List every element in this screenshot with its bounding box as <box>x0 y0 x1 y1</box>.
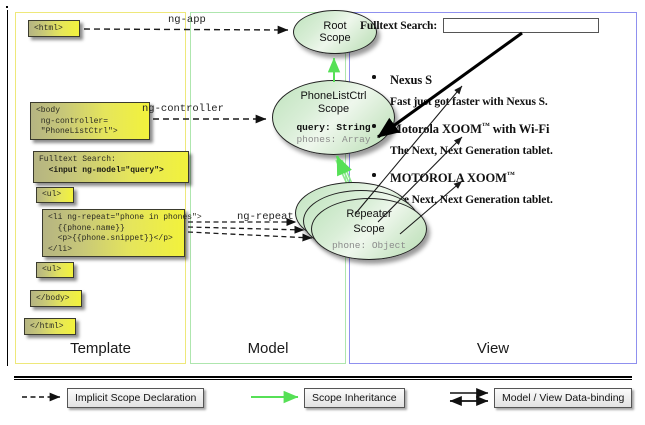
legend-label-model-view-databinding: Model / View Data-binding <box>494 388 632 408</box>
scope-phonelistctrl-title-1: PhoneListCtrl <box>300 90 366 103</box>
list-item[interactable]: Nexus S Fast just got faster with Nexus … <box>372 70 622 109</box>
edge-label-ng-controller: ng-controller <box>142 103 224 115</box>
list-item-name-suffix: with Wi-Fi <box>490 122 550 136</box>
list-item-snippet: Fast just got faster with Nexus S. <box>390 96 622 109</box>
edge-label-ng-repeat: ng-repeat <box>237 211 294 223</box>
list-item-name-text: Nexus S <box>390 73 432 87</box>
code-box-fulltext-search: Fulltext Search: <input ng-model="query"… <box>33 151 189 183</box>
list-item[interactable]: MOTOROLA XOOM™ The Next, Next Generation… <box>372 168 622 207</box>
list-item-name-text: MOTOROLA XOOM <box>390 171 507 185</box>
scope-root-title-2: Scope <box>319 32 350 45</box>
list-item-name-text: Motorola XOOM <box>390 122 482 136</box>
scope-repeater-front: Repeater Scope phone: Object <box>311 198 427 260</box>
legend-divider <box>14 376 632 378</box>
code-box-li-ng-repeat: <li ng-repeat="phone in phones"> {{phone… <box>42 209 185 257</box>
list-item-snippet: The Next, Next Generation tablet. <box>390 145 622 158</box>
scope-phonelistctrl-title-2: Scope <box>318 103 349 116</box>
scope-repeater-title-1: Repeater <box>346 208 391 221</box>
trademark-icon: ™ <box>507 170 515 179</box>
list-item[interactable]: Motorola XOOM™ with Wi-Fi The Next, Next… <box>372 119 622 158</box>
panel-view-label: View <box>350 340 636 357</box>
edge-label-ng-app: ng-app <box>168 14 206 26</box>
panel-model-label: Model <box>191 340 345 357</box>
code-box-html-open: <html> <box>28 20 80 37</box>
bullet-icon <box>372 75 376 79</box>
scope-root-title-1: Root <box>323 20 346 33</box>
view-phone-list: Nexus S Fast just got faster with Nexus … <box>372 70 622 217</box>
code-box-body-close: </body> <box>30 290 82 307</box>
legend-label-scope-inheritance: Scope Inheritance <box>304 388 405 408</box>
diagram-canvas: Template Model View <box>0 0 645 425</box>
legend-label-implicit-scope-declaration: Implicit Scope Declaration <box>67 388 204 408</box>
bullet-icon <box>372 173 376 177</box>
code-box-html-close: </html> <box>24 318 76 335</box>
scope-repeater-title-2: Scope <box>353 223 384 236</box>
code-box-search-line2: <input ng-model="query"> <box>39 166 164 175</box>
code-box-search-line1: Fulltext Search: <box>39 155 116 164</box>
code-box-body-open: <body ng-controller= "PhoneListCtrl"> <box>30 102 150 140</box>
scope-repeater-prop-phone: phone: Object <box>332 240 406 252</box>
list-item-name: Nexus S <box>390 70 622 87</box>
code-box-ul-close: <ul> <box>36 262 74 278</box>
view-search-row: Fulltext Search: <box>360 18 599 33</box>
legend-divider-thin <box>14 379 632 380</box>
legend-arrow-binding <box>450 393 488 401</box>
view-search-input[interactable] <box>443 18 599 33</box>
view-search-label: Fulltext Search: <box>360 20 437 32</box>
list-item-snippet: The Next, Next Generation tablet. <box>390 194 622 207</box>
trademark-icon: ™ <box>482 121 490 130</box>
page-edge-mark <box>6 6 8 8</box>
panel-template-label: Template <box>16 340 185 357</box>
bullet-icon <box>372 124 376 128</box>
list-item-name: Motorola XOOM™ with Wi-Fi <box>390 119 622 136</box>
list-item-name: MOTOROLA XOOM™ <box>390 168 622 185</box>
page-edge-line <box>7 10 8 366</box>
code-box-ul-open: <ul> <box>36 187 74 203</box>
